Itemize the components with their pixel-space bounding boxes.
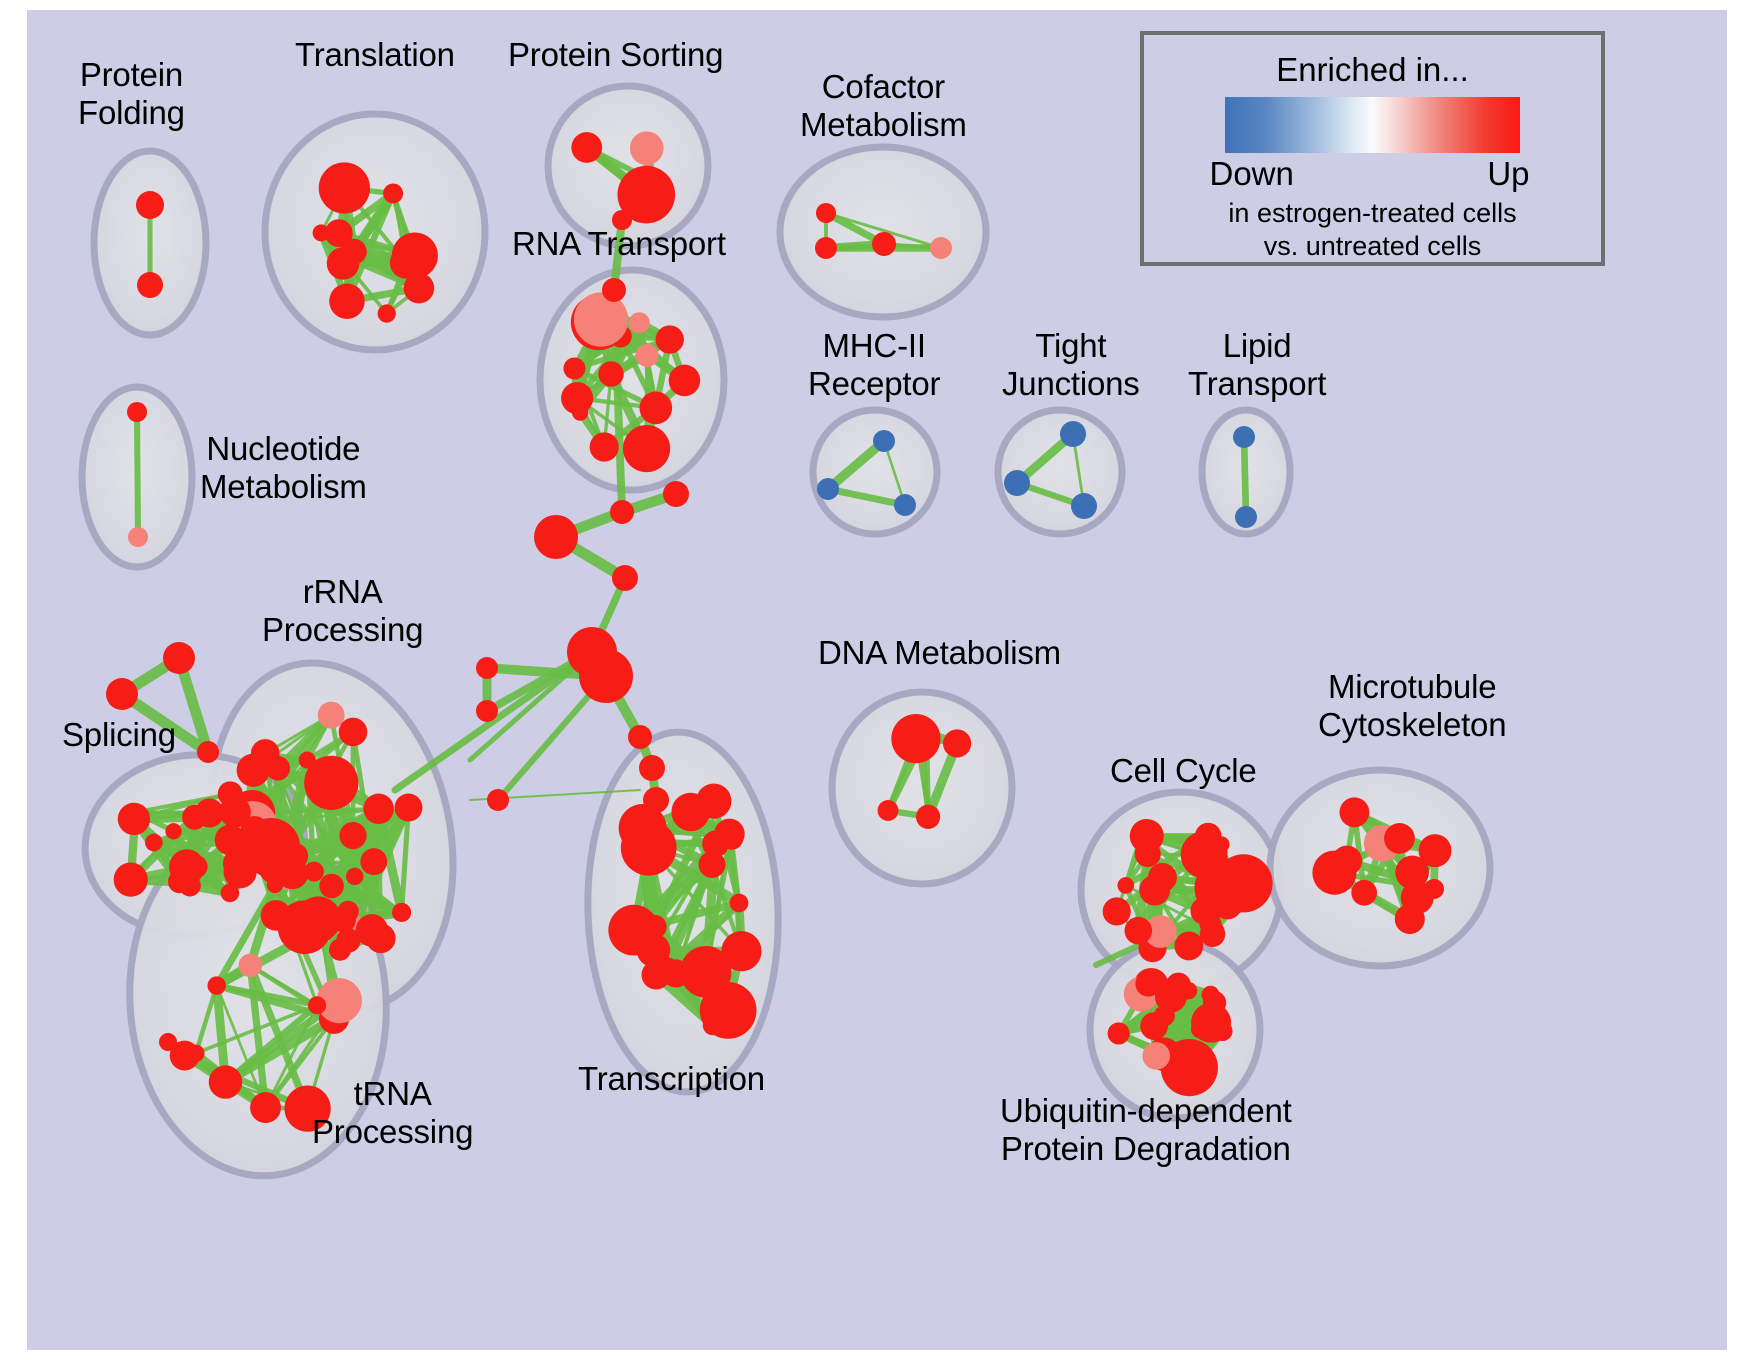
network-node bbox=[574, 292, 628, 346]
network-node bbox=[1004, 470, 1030, 496]
network-node bbox=[579, 649, 633, 703]
network-node bbox=[621, 820, 677, 876]
network-node bbox=[1148, 863, 1177, 892]
network-node bbox=[610, 500, 634, 524]
network-node bbox=[1235, 506, 1257, 528]
cluster-label-dna-metabolism: DNA Metabolism bbox=[818, 634, 1061, 672]
network-node bbox=[341, 250, 359, 268]
legend-down-label: Down bbox=[1210, 155, 1294, 193]
network-node bbox=[699, 851, 726, 878]
network-node bbox=[476, 657, 498, 679]
network-node bbox=[1174, 931, 1203, 960]
cluster-label-protein-sorting: Protein Sorting bbox=[508, 36, 723, 74]
network-node bbox=[1199, 874, 1216, 891]
network-node bbox=[639, 392, 672, 425]
network-node bbox=[1195, 823, 1221, 849]
network-node bbox=[163, 642, 195, 674]
network-edge bbox=[137, 412, 138, 537]
cluster-label-tight-junctions: Tight Junctions bbox=[1002, 327, 1140, 403]
network-node bbox=[1424, 879, 1444, 899]
network-node bbox=[630, 131, 664, 165]
network-node bbox=[1117, 877, 1134, 894]
network-node bbox=[261, 900, 292, 931]
network-node bbox=[563, 357, 585, 379]
network-node bbox=[656, 325, 684, 353]
cluster-label-lipid-transport: Lipid Transport bbox=[1188, 327, 1326, 403]
cluster-label-microtubule-cytoskeleton: Microtubule Cytoskeleton bbox=[1318, 668, 1506, 744]
network-node bbox=[1142, 1042, 1170, 1070]
network-node bbox=[307, 915, 334, 942]
network-node bbox=[383, 183, 403, 203]
network-node bbox=[1401, 913, 1421, 933]
network-node bbox=[721, 931, 761, 971]
network-node bbox=[318, 702, 345, 729]
legend-endpoints: Down Up bbox=[1208, 153, 1538, 195]
network-edge bbox=[1244, 437, 1246, 517]
network-node bbox=[930, 237, 952, 259]
network-node bbox=[159, 1033, 177, 1051]
network-node bbox=[598, 361, 623, 386]
network-node bbox=[815, 237, 837, 259]
network-node bbox=[943, 729, 971, 757]
legend-up-label: Up bbox=[1487, 155, 1529, 193]
legend-subtitle-line2: vs. untreated cells bbox=[1144, 230, 1601, 263]
network-node bbox=[1140, 1012, 1168, 1040]
network-node bbox=[168, 870, 191, 893]
network-node bbox=[308, 996, 326, 1014]
network-node bbox=[669, 365, 701, 397]
network-node bbox=[878, 800, 899, 821]
network-node bbox=[730, 894, 749, 913]
network-node bbox=[1180, 982, 1197, 999]
network-node bbox=[643, 915, 667, 939]
network-node bbox=[1108, 1022, 1130, 1044]
network-node bbox=[220, 796, 251, 827]
network-node bbox=[629, 312, 650, 333]
network-node bbox=[1351, 880, 1377, 906]
legend-subtitle: in estrogen-treated cells vs. untreated … bbox=[1144, 197, 1601, 263]
network-node bbox=[628, 725, 652, 749]
network-node bbox=[267, 877, 283, 893]
network-node bbox=[346, 868, 363, 885]
network-node bbox=[390, 247, 422, 279]
network-node bbox=[165, 823, 181, 839]
cluster-label-transcription: Transcription bbox=[578, 1060, 765, 1098]
cluster-label-rrna-processing: rRNA Processing bbox=[262, 573, 423, 649]
cluster-label-translation: Translation bbox=[295, 36, 455, 74]
legend-colorbar bbox=[1225, 97, 1520, 153]
cluster-ellipse bbox=[780, 147, 986, 317]
network-node bbox=[221, 884, 240, 903]
network-node bbox=[378, 304, 396, 322]
cluster-ellipse bbox=[813, 410, 937, 534]
network-node bbox=[1312, 851, 1356, 895]
network-node bbox=[1135, 841, 1161, 867]
network-node bbox=[476, 700, 498, 722]
network-node bbox=[145, 834, 163, 852]
network-node bbox=[1060, 421, 1086, 447]
network-node bbox=[1384, 823, 1415, 854]
network-node bbox=[1191, 1003, 1231, 1043]
network-node bbox=[817, 478, 839, 500]
network-node bbox=[128, 804, 144, 820]
network-node bbox=[873, 430, 895, 452]
network-node bbox=[1339, 797, 1369, 827]
network-node bbox=[590, 432, 619, 461]
network-node bbox=[1125, 917, 1153, 945]
network-node bbox=[534, 515, 578, 559]
network-node bbox=[636, 344, 659, 367]
network-node bbox=[395, 794, 423, 822]
network-node bbox=[392, 903, 411, 922]
network-node bbox=[1135, 971, 1161, 997]
cluster-label-splicing: Splicing bbox=[62, 716, 176, 754]
network-node bbox=[197, 741, 219, 763]
cluster-label-cofactor-metabolism: Cofactor Metabolism bbox=[800, 68, 967, 144]
network-node bbox=[1419, 834, 1452, 867]
network-node bbox=[209, 1065, 242, 1098]
network-node bbox=[207, 976, 226, 995]
cluster-ellipse bbox=[582, 729, 784, 1095]
cluster-label-nucleotide-metabolism: Nucleotide Metabolism bbox=[200, 430, 367, 506]
network-node bbox=[360, 848, 387, 875]
network-node bbox=[232, 840, 264, 872]
network-node bbox=[652, 957, 680, 985]
network-node bbox=[487, 789, 509, 811]
network-node bbox=[916, 805, 940, 829]
cluster-label-mhc-ii-receptor: MHC-II Receptor bbox=[808, 327, 940, 403]
network-node bbox=[915, 721, 939, 745]
network-node bbox=[250, 1092, 281, 1123]
network-node bbox=[561, 382, 593, 414]
network-node bbox=[894, 494, 916, 516]
network-node bbox=[363, 794, 394, 825]
figure-canvas: Protein FoldingTranslationProtein Sortin… bbox=[0, 0, 1750, 1360]
cluster-label-cell-cycle: Cell Cycle bbox=[1110, 752, 1257, 790]
network-node bbox=[1199, 913, 1221, 935]
network-node bbox=[339, 718, 368, 747]
network-node bbox=[663, 481, 689, 507]
network-node bbox=[299, 752, 316, 769]
network-node bbox=[339, 822, 366, 849]
network-node bbox=[319, 162, 370, 213]
network-node bbox=[672, 801, 694, 823]
legend-panel: Enriched in... Down Up in estrogen-treat… bbox=[1140, 31, 1605, 266]
network-node bbox=[602, 278, 626, 302]
network-node bbox=[319, 874, 344, 899]
network-node bbox=[237, 754, 270, 787]
network-node bbox=[136, 191, 164, 219]
network-node bbox=[127, 402, 147, 422]
network-node bbox=[336, 928, 360, 952]
cluster-label-protein-folding: Protein Folding bbox=[78, 56, 185, 132]
network-node bbox=[643, 787, 669, 813]
network-node bbox=[623, 425, 670, 472]
network-node bbox=[106, 678, 138, 710]
network-node bbox=[329, 283, 364, 318]
network-node bbox=[1235, 878, 1259, 902]
legend-subtitle-line1: in estrogen-treated cells bbox=[1144, 197, 1601, 230]
legend-title: Enriched in... bbox=[1144, 51, 1601, 89]
cluster-label-trna-processing: tRNA Processing bbox=[312, 1075, 473, 1151]
network-node bbox=[816, 203, 836, 223]
network-node bbox=[1233, 426, 1255, 448]
network-node bbox=[720, 826, 744, 850]
cluster-label-rna-transport: RNA Transport bbox=[512, 225, 726, 263]
network-node bbox=[128, 527, 148, 547]
network-node bbox=[1071, 493, 1097, 519]
cluster-label-ubiquitin-degradation: Ubiquitin-dependent Protein Degradation bbox=[1000, 1092, 1292, 1168]
network-node bbox=[571, 132, 602, 163]
network-node bbox=[137, 272, 163, 298]
network-node bbox=[239, 954, 263, 978]
network-node bbox=[872, 232, 896, 256]
network-node bbox=[1103, 897, 1131, 925]
network-node bbox=[1184, 1048, 1216, 1080]
network-node bbox=[612, 565, 638, 591]
network-node bbox=[114, 862, 148, 896]
network-node bbox=[639, 755, 665, 781]
